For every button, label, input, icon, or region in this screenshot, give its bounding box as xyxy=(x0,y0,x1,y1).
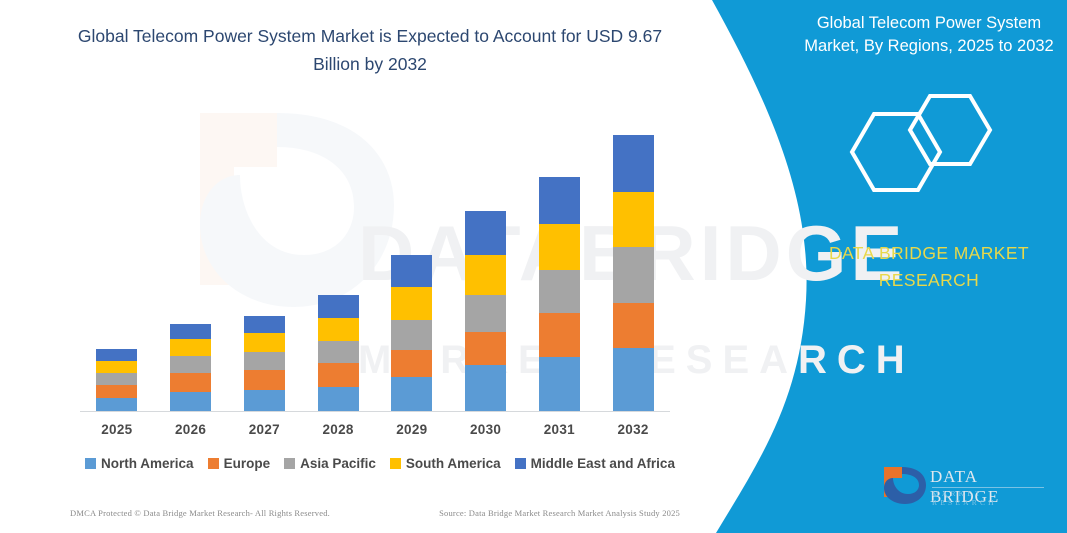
bar-segment xyxy=(96,373,137,385)
bar-segment xyxy=(465,365,506,411)
bar-segment xyxy=(539,357,580,411)
hexagon-year-badges xyxy=(822,92,1022,212)
x-axis-label-2031: 2031 xyxy=(524,422,594,437)
bar-segment xyxy=(613,348,654,411)
bar-column-2032 xyxy=(613,135,654,411)
hexagon-2025 xyxy=(910,96,990,164)
bar-segment xyxy=(391,377,432,411)
chart-legend: North AmericaEuropeAsia PacificSouth Ame… xyxy=(80,456,680,471)
x-axis-label-2029: 2029 xyxy=(377,422,447,437)
legend-label: North America xyxy=(101,456,194,471)
bar-segment xyxy=(170,324,211,339)
bar-segment xyxy=(465,211,506,255)
bar-segment xyxy=(96,385,137,398)
legend-item[interactable]: Asia Pacific xyxy=(284,456,376,471)
legend-swatch-icon xyxy=(284,458,295,469)
legend-item[interactable]: Middle East and Africa xyxy=(515,456,675,471)
legend-swatch-icon xyxy=(208,458,219,469)
bar-segment xyxy=(96,349,137,361)
logo-subtext: MARKET RESEARCH xyxy=(932,489,1050,507)
bar-segment xyxy=(465,255,506,295)
bar-segment xyxy=(244,333,285,352)
bar-column-2028 xyxy=(318,295,359,411)
legend-swatch-icon xyxy=(390,458,401,469)
logo-mark-icon xyxy=(880,463,928,509)
bar-segment xyxy=(170,373,211,392)
bar-segment xyxy=(318,295,359,318)
legend-swatch-icon xyxy=(515,458,526,469)
bar-segment xyxy=(318,318,359,341)
bar-segment xyxy=(539,224,580,270)
bar-segment xyxy=(96,398,137,411)
x-axis-labels: 20252026202720282029203020312032 xyxy=(80,422,670,444)
x-axis-label-2028: 2028 xyxy=(303,422,373,437)
legend-label: Asia Pacific xyxy=(300,456,376,471)
bar-segment xyxy=(244,316,285,333)
legend-item[interactable]: South America xyxy=(390,456,501,471)
bar-segment xyxy=(318,341,359,363)
bar-segment xyxy=(465,332,506,365)
bar-column-2026 xyxy=(170,324,211,411)
bar-segment xyxy=(539,313,580,357)
bar-column-2029 xyxy=(391,255,432,411)
bar-segment xyxy=(613,135,654,192)
hexagon-shapes xyxy=(822,92,1022,212)
x-axis-label-2030: 2030 xyxy=(451,422,521,437)
bar-segment xyxy=(465,295,506,332)
bar-segment xyxy=(539,177,580,224)
bar-column-2031 xyxy=(539,177,580,411)
hexagon-2032 xyxy=(852,114,940,190)
bar-segment xyxy=(244,370,285,390)
bar-column-2030 xyxy=(465,211,506,411)
footer-copyright: DMCA Protected © Data Bridge Market Rese… xyxy=(70,508,330,518)
legend-item[interactable]: North America xyxy=(85,456,194,471)
x-axis-label-2026: 2026 xyxy=(156,422,226,437)
brand-name-text: DATA BRIDGE MARKET RESEARCH xyxy=(800,240,1058,294)
bar-segment xyxy=(244,390,285,411)
bar-segment xyxy=(613,192,654,247)
legend-label: Middle East and Africa xyxy=(531,456,675,471)
footer-source: Source: Data Bridge Market Research Mark… xyxy=(439,508,680,518)
bar-column-2025 xyxy=(96,349,137,411)
bar-segment xyxy=(96,361,137,373)
chart-area: DATABRIDGE MARKET RESEARCH Global Teleco… xyxy=(0,0,740,533)
panel-title: Global Telecom Power System Market, By R… xyxy=(800,12,1058,58)
legend-swatch-icon xyxy=(85,458,96,469)
bar-segment xyxy=(318,363,359,387)
bar-column-2027 xyxy=(244,316,285,411)
stacked-bar-plot xyxy=(80,100,670,412)
page-title: Global Telecom Power System Market is Ex… xyxy=(55,22,685,78)
bar-segment xyxy=(391,320,432,350)
legend-item[interactable]: Europe xyxy=(208,456,271,471)
footer: DMCA Protected © Data Bridge Market Rese… xyxy=(70,508,680,518)
x-axis-label-2027: 2027 xyxy=(229,422,299,437)
bar-segment xyxy=(539,270,580,313)
bar-segment xyxy=(170,356,211,373)
bar-segment xyxy=(244,352,285,370)
legend-label: Europe xyxy=(224,456,271,471)
bar-segment xyxy=(170,392,211,411)
data-bridge-logo: DATA BRIDGE MARKET RESEARCH xyxy=(880,463,1050,513)
x-axis-label-2032: 2032 xyxy=(598,422,668,437)
bar-segment xyxy=(318,387,359,411)
x-axis-line xyxy=(80,411,670,412)
bar-segment xyxy=(613,303,654,348)
legend-label: South America xyxy=(406,456,501,471)
bar-segment xyxy=(391,287,432,320)
bar-segment xyxy=(391,255,432,287)
x-axis-label-2025: 2025 xyxy=(82,422,152,437)
bar-segment xyxy=(391,350,432,377)
bar-segment xyxy=(170,339,211,356)
bar-segment xyxy=(613,247,654,303)
